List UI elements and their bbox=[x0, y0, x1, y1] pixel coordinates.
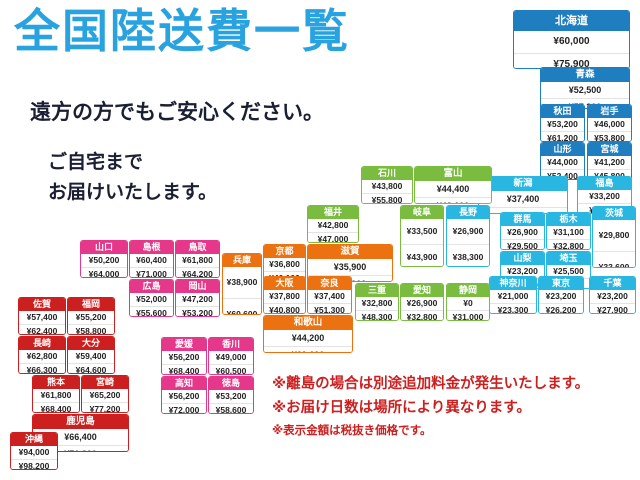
prefecture-fee-primary: ¥43,800 bbox=[362, 180, 412, 193]
prefecture-fee-primary: ¥31,100 bbox=[547, 226, 590, 239]
prefecture-name: 千葉 bbox=[590, 277, 635, 290]
prefecture-card[interactable]: 神奈川¥21,000¥23,300 bbox=[489, 276, 537, 314]
prefecture-fee-secondary: ¥64,000 bbox=[81, 267, 127, 278]
prefecture-card[interactable]: 島根¥60,400¥71,000 bbox=[129, 240, 174, 278]
prefecture-fee-primary: ¥37,400 bbox=[479, 191, 567, 207]
prefecture-fee-secondary: ¥68,400 bbox=[162, 364, 206, 375]
prefecture-fee-primary: ¥44,400 bbox=[415, 181, 491, 197]
prefecture-card[interactable]: 徳島¥53,200¥58,600 bbox=[208, 376, 254, 414]
prefecture-name: 群馬 bbox=[501, 213, 544, 226]
prefecture-fee-primary: ¥50,200 bbox=[81, 254, 127, 267]
prefecture-card[interactable]: 岩手¥46,000¥53,800 bbox=[587, 104, 632, 142]
prefecture-name: 島根 bbox=[130, 241, 173, 254]
prefecture-fee-primary: ¥56,200 bbox=[162, 390, 206, 403]
prefecture-name: 熊本 bbox=[33, 376, 79, 389]
prefecture-fee-primary: ¥52,500 bbox=[541, 82, 629, 98]
prefecture-name: 奈良 bbox=[308, 277, 351, 290]
prefecture-fee-secondary: ¥33,600 bbox=[593, 251, 635, 268]
prefecture-fee-primary: ¥32,800 bbox=[356, 297, 398, 310]
prefecture-fee-primary: ¥49,000 bbox=[209, 351, 253, 364]
prefecture-name: 広島 bbox=[130, 280, 173, 293]
prefecture-card[interactable]: 東京¥23,200¥26,200 bbox=[538, 276, 584, 314]
prefecture-fee-primary: ¥55,200 bbox=[68, 311, 114, 324]
prefecture-name: 徳島 bbox=[209, 377, 253, 390]
prefecture-fee-secondary: ¥64,200 bbox=[176, 267, 219, 278]
prefecture-card[interactable]: 千葉¥23,200¥27,900 bbox=[589, 276, 636, 314]
prefecture-fee-primary: ¥57,400 bbox=[19, 311, 65, 324]
prefecture-name: 神奈川 bbox=[490, 277, 536, 290]
prefecture-fee-secondary: ¥40,800 bbox=[264, 303, 305, 314]
prefecture-fee-primary: ¥44,200 bbox=[264, 330, 352, 346]
prefecture-fee-secondary: ¥48,000 bbox=[415, 197, 491, 204]
prefecture-name: 愛知 bbox=[401, 284, 443, 297]
prefecture-card[interactable]: 愛知¥26,900¥32,800 bbox=[400, 283, 444, 321]
prefecture-card[interactable]: 山形¥44,000¥52,400 bbox=[540, 142, 585, 180]
note-remote-island-surcharge: ※離島の場合は別途追加料金が発生いたします。 bbox=[272, 372, 638, 396]
prefecture-fee-secondary: ¥68,400 bbox=[33, 402, 79, 413]
prefecture-card[interactable]: 三重¥32,800¥48,300 bbox=[355, 283, 399, 321]
prefecture-fee-primary: ¥36,800 bbox=[264, 258, 305, 271]
prefecture-name: 静岡 bbox=[447, 284, 489, 297]
prefecture-name: 岐阜 bbox=[401, 206, 443, 219]
prefecture-fee-secondary: ¥53,800 bbox=[588, 131, 631, 142]
prefecture-fee-primary: ¥60,400 bbox=[130, 254, 173, 267]
prefecture-card[interactable]: 岐阜¥33,500¥43,900 bbox=[400, 205, 444, 267]
prefecture-fee-secondary: ¥58,800 bbox=[68, 324, 114, 335]
prefecture-fee-primary: ¥26,900 bbox=[501, 226, 544, 239]
prefecture-fee-secondary: ¥60,600 bbox=[223, 298, 261, 315]
prefecture-name: 福岡 bbox=[68, 298, 114, 311]
prefecture-name: 福島 bbox=[578, 177, 631, 190]
prefecture-card[interactable]: 広島¥52,000¥55,600 bbox=[129, 279, 174, 317]
prefecture-fee-primary: ¥61,800 bbox=[176, 254, 219, 267]
prefecture-name: 高知 bbox=[162, 377, 206, 390]
prefecture-fee-primary: ¥35,900 bbox=[308, 259, 392, 275]
prefecture-fee-secondary: ¥62,400 bbox=[19, 324, 65, 335]
prefecture-card[interactable]: 福岡¥55,200¥58,800 bbox=[67, 297, 115, 335]
prefecture-fee-secondary: ¥32,800 bbox=[401, 310, 443, 321]
prefecture-fee-secondary: ¥26,200 bbox=[539, 303, 583, 314]
prefecture-name: 栃木 bbox=[547, 213, 590, 226]
prefecture-fee-secondary: ¥98,200 bbox=[11, 459, 57, 470]
prefecture-fee-primary: ¥0 bbox=[447, 297, 489, 310]
prefecture-card[interactable]: 栃木¥31,100¥32,800 bbox=[546, 212, 591, 250]
prefecture-card[interactable]: 奈良¥37,400¥51,300 bbox=[307, 276, 352, 314]
prefecture-name: 岩手 bbox=[588, 105, 631, 118]
prefecture-fee-primary: ¥33,200 bbox=[578, 190, 631, 203]
prefecture-name: 大阪 bbox=[264, 277, 305, 290]
prefecture-fee-secondary: ¥55,600 bbox=[130, 306, 173, 317]
prefecture-name: 三重 bbox=[356, 284, 398, 297]
note-tax-excluded: ※表示金額は税抜き価格です。 bbox=[272, 420, 638, 442]
prefecture-fee-secondary: ¥64,600 bbox=[68, 363, 114, 374]
prefecture-card[interactable]: 長野¥26,900¥38,300 bbox=[446, 205, 490, 267]
prefecture-card[interactable]: 石川¥43,800¥55,800 bbox=[361, 166, 413, 204]
prefecture-card[interactable]: 福井¥42,800¥47,000 bbox=[307, 205, 359, 243]
prefecture-fee-primary: ¥53,200 bbox=[541, 118, 584, 131]
prefecture-name: 京都 bbox=[264, 245, 305, 258]
prefecture-card[interactable]: 和歌山¥44,200¥69,600 bbox=[263, 315, 353, 353]
prefecture-name: 宮崎 bbox=[82, 376, 128, 389]
prefecture-name: 愛媛 bbox=[162, 338, 206, 351]
notes-block: ※離島の場合は別途追加料金が発生いたします。 ※お届け日数は場所により異なります… bbox=[272, 372, 638, 442]
prefecture-card[interactable]: 秋田¥53,200¥61,200 bbox=[540, 104, 585, 142]
prefecture-name: 大分 bbox=[68, 337, 114, 350]
prefecture-fee-secondary: ¥29,500 bbox=[501, 239, 544, 250]
subtitle-delivery-line2: お届けいたします。 bbox=[48, 178, 217, 208]
prefecture-fee-primary: ¥65,200 bbox=[82, 389, 128, 402]
prefecture-name: 岡山 bbox=[176, 280, 219, 293]
prefecture-name: 兵庫 bbox=[223, 254, 261, 267]
prefecture-name: 新潟 bbox=[479, 177, 567, 191]
prefecture-card[interactable]: 熊本¥61,800¥68,400 bbox=[32, 375, 80, 413]
prefecture-card[interactable]: 佐賀¥57,400¥62,400 bbox=[18, 297, 66, 335]
prefecture-name: 和歌山 bbox=[264, 316, 352, 330]
prefecture-card[interactable]: 岡山¥47,200¥53,200 bbox=[175, 279, 220, 317]
prefecture-fee-secondary: ¥48,300 bbox=[356, 310, 398, 321]
prefecture-fee-primary: ¥37,800 bbox=[264, 290, 305, 303]
prefecture-fee-primary: ¥41,200 bbox=[588, 156, 631, 169]
page-title: 全国陸送費一覧 bbox=[14, 6, 350, 56]
prefecture-fee-secondary: ¥60,500 bbox=[209, 364, 253, 375]
prefecture-fee-primary: ¥23,200 bbox=[539, 290, 583, 303]
prefecture-fee-primary: ¥56,200 bbox=[162, 351, 206, 364]
prefecture-name: 鹿児島 bbox=[33, 415, 128, 429]
prefecture-fee-secondary: ¥55,800 bbox=[362, 193, 412, 204]
prefecture-fee-secondary: ¥38,300 bbox=[447, 244, 489, 267]
prefecture-card[interactable]: 大分¥59,400¥64,600 bbox=[67, 336, 115, 374]
prefecture-fee-primary: ¥46,000 bbox=[588, 118, 631, 131]
prefecture-name: 東京 bbox=[539, 277, 583, 290]
prefecture-card[interactable]: 群馬¥26,900¥29,500 bbox=[500, 212, 545, 250]
prefecture-card[interactable]: 沖縄¥94,000¥98,200 bbox=[10, 432, 58, 470]
prefecture-name: 茨城 bbox=[593, 207, 635, 220]
prefecture-fee-secondary: ¥58,600 bbox=[209, 403, 253, 414]
subtitle-delivery-line1: ご自宅まで bbox=[48, 148, 217, 178]
prefecture-fee-primary: ¥60,000 bbox=[514, 31, 629, 53]
prefecture-fee-primary: ¥59,400 bbox=[68, 350, 114, 363]
prefecture-fee-secondary: ¥27,900 bbox=[590, 303, 635, 314]
prefecture-fee-secondary: ¥53,200 bbox=[176, 306, 219, 317]
prefecture-card[interactable]: 茨城¥29,800¥33,600 bbox=[592, 206, 636, 268]
prefecture-name: 山梨 bbox=[501, 252, 544, 265]
subtitle-delivery: ご自宅まで お届けいたします。 bbox=[48, 148, 217, 208]
prefecture-fee-primary: ¥33,500 bbox=[401, 219, 443, 244]
prefecture-fee-primary: ¥26,900 bbox=[447, 219, 489, 244]
prefecture-name: 滋賀 bbox=[308, 245, 392, 259]
prefecture-fee-secondary: ¥43,900 bbox=[401, 244, 443, 267]
prefecture-fee-primary: ¥62,800 bbox=[19, 350, 65, 363]
prefecture-name: 佐賀 bbox=[19, 298, 65, 311]
prefecture-card[interactable]: 兵庫¥38,900¥60,600 bbox=[222, 253, 262, 315]
prefecture-fee-secondary: ¥71,000 bbox=[130, 267, 173, 278]
prefecture-fee-secondary: ¥51,300 bbox=[308, 303, 351, 314]
prefecture-fee-secondary: ¥47,000 bbox=[308, 232, 358, 243]
prefecture-name: 山口 bbox=[81, 241, 127, 254]
prefecture-fee-secondary: ¥72,000 bbox=[162, 403, 206, 414]
note-delivery-days: ※お届け日数は場所により異なります。 bbox=[272, 396, 638, 420]
prefecture-card[interactable]: 愛媛¥56,200¥68,400 bbox=[161, 337, 207, 375]
prefecture-name: 富山 bbox=[415, 167, 491, 181]
prefecture-name: 青森 bbox=[541, 68, 629, 82]
prefecture-fee-primary: ¥47,200 bbox=[176, 293, 219, 306]
prefecture-name: 宮城 bbox=[588, 143, 631, 156]
prefecture-card[interactable]: 青森¥52,500¥57,300 bbox=[540, 67, 630, 109]
prefecture-card[interactable]: 宮崎¥65,200¥77,200 bbox=[81, 375, 129, 413]
prefecture-fee-primary: ¥42,800 bbox=[308, 219, 358, 232]
prefecture-fee-primary: ¥21,000 bbox=[490, 290, 536, 303]
prefecture-card[interactable]: 長崎¥62,800¥66,300 bbox=[18, 336, 66, 374]
prefecture-fee-primary: ¥44,000 bbox=[541, 156, 584, 169]
prefecture-name: 石川 bbox=[362, 167, 412, 180]
prefecture-fee-primary: ¥61,800 bbox=[33, 389, 79, 402]
prefecture-name: 長野 bbox=[447, 206, 489, 219]
prefecture-fee-primary: ¥94,000 bbox=[11, 446, 57, 459]
prefecture-fee-primary: ¥29,800 bbox=[593, 220, 635, 251]
prefecture-name: 山形 bbox=[541, 143, 584, 156]
prefecture-card[interactable]: 静岡¥0¥31,000 bbox=[446, 283, 490, 321]
prefecture-fee-primary: ¥52,000 bbox=[130, 293, 173, 306]
prefecture-card[interactable]: 高知¥56,200¥72,000 bbox=[161, 376, 207, 414]
prefecture-fee-secondary: ¥32,800 bbox=[547, 239, 590, 250]
prefecture-name: 北海道 bbox=[514, 11, 629, 31]
prefecture-fee-secondary: ¥66,300 bbox=[19, 363, 65, 374]
prefecture-card[interactable]: 富山¥44,400¥48,000 bbox=[414, 166, 492, 204]
prefecture-name: 長崎 bbox=[19, 337, 65, 350]
prefecture-name: 秋田 bbox=[541, 105, 584, 118]
transport-fee-infographic: 全国陸送費一覧 遠方の方でもご安心ください。 ご自宅まで お届けいたします。 北… bbox=[0, 0, 640, 480]
prefecture-fee-primary: ¥26,900 bbox=[401, 297, 443, 310]
subtitle-reassurance: 遠方の方でもご安心ください。 bbox=[30, 100, 324, 126]
prefecture-fee-primary: ¥23,200 bbox=[590, 290, 635, 303]
prefecture-card[interactable]: 香川¥49,000¥60,500 bbox=[208, 337, 254, 375]
prefecture-fee-primary: ¥37,400 bbox=[308, 290, 351, 303]
prefecture-name: 沖縄 bbox=[11, 433, 57, 446]
prefecture-name: 鳥取 bbox=[176, 241, 219, 254]
prefecture-card[interactable]: 大阪¥37,800¥40,800 bbox=[263, 276, 306, 314]
prefecture-fee-secondary: ¥69,600 bbox=[264, 346, 352, 353]
prefecture-name: 福井 bbox=[308, 206, 358, 219]
prefecture-card[interactable]: 北海道¥60,000¥75,900 bbox=[513, 10, 630, 69]
prefecture-card[interactable]: 宮城¥41,200¥45,800 bbox=[587, 142, 632, 180]
prefecture-name: 埼玉 bbox=[547, 252, 590, 265]
prefecture-name: 香川 bbox=[209, 338, 253, 351]
prefecture-fee-primary: ¥38,900 bbox=[223, 267, 261, 298]
prefecture-fee-secondary: ¥31,000 bbox=[447, 310, 489, 321]
prefecture-fee-primary: ¥53,200 bbox=[209, 390, 253, 403]
prefecture-fee-secondary: ¥23,300 bbox=[490, 303, 536, 314]
prefecture-fee-secondary: ¥61,200 bbox=[541, 131, 584, 142]
prefecture-fee-secondary: ¥77,200 bbox=[82, 402, 128, 413]
prefecture-card[interactable]: 山口¥50,200¥64,000 bbox=[80, 240, 128, 278]
prefecture-card[interactable]: 鳥取¥61,800¥64,200 bbox=[175, 240, 220, 278]
